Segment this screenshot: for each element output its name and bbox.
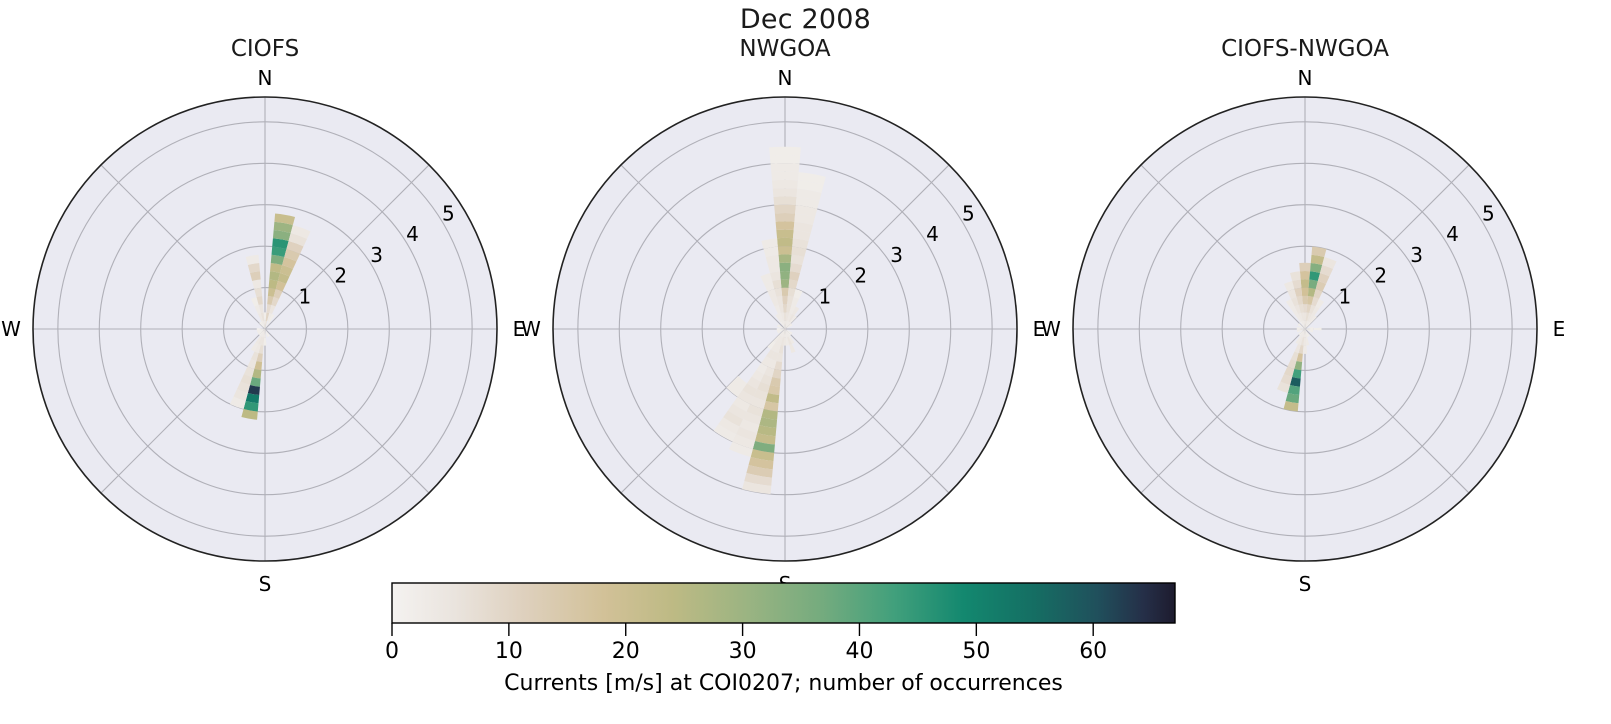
colorbar-tick-label: 30 [729, 639, 757, 664]
cardinal-label-w: W [521, 317, 541, 341]
colorbar-tick-label: 40 [845, 639, 873, 664]
rose-wedge [779, 263, 791, 272]
rose-wedge [780, 271, 790, 279]
cardinal-label-w: W [1041, 317, 1061, 341]
rose-wedge [1300, 271, 1310, 279]
radial-tick-label: 3 [890, 243, 903, 267]
cardinal-label-n: N [1298, 66, 1313, 90]
rose-wedge [1303, 304, 1307, 312]
radial-tick-label: 2 [854, 264, 867, 288]
cardinal-label-w: W [1, 317, 21, 341]
rose-wedge [1303, 346, 1307, 354]
rose-wedge [770, 155, 800, 164]
colorbar-tick-label: 60 [1079, 639, 1107, 664]
colorbar: 0102030405060 Currents [m/s] at COI0207;… [392, 583, 1175, 637]
colorbar-tick-label: 20 [612, 639, 640, 664]
radial-tick-label: 1 [819, 284, 832, 308]
colorbar-gradient [392, 583, 1175, 637]
rose-wedge [782, 296, 788, 304]
rose-wedge [778, 246, 792, 255]
radial-tick-label: 2 [334, 264, 347, 288]
rose-wedge [1299, 263, 1311, 272]
radial-tick-label: 3 [370, 243, 383, 267]
rose-wedge [777, 238, 793, 247]
cardinal-label-n: N [258, 66, 273, 90]
cardinal-label-e: E [1553, 317, 1566, 341]
colorbar-caption: Currents [m/s] at COI0207; number of occ… [392, 671, 1175, 696]
rose-wedge [1302, 296, 1308, 304]
rose-wedge [776, 230, 793, 239]
rose-wedge [781, 288, 788, 296]
rose-wedge [1301, 288, 1308, 296]
radial-tick-label: 1 [1339, 284, 1352, 308]
radial-tick-label: 4 [1446, 222, 1459, 246]
rose-wedge [772, 180, 798, 189]
rose-wedge [779, 254, 792, 263]
radial-tick-label: 3 [1410, 243, 1423, 267]
rose-wedge [775, 213, 795, 222]
colorbar-tick-label: 50 [962, 639, 990, 664]
radial-tick-label: 1 [299, 284, 312, 308]
rose-wedge [773, 188, 798, 197]
rose-wedge [769, 147, 801, 156]
figure-canvas: Dec 2008 CIOFS12345NSEWNWGOA12345NSEWCIO… [0, 0, 1611, 724]
colorbar-tick-label: 10 [495, 639, 523, 664]
rose-wedge [1301, 279, 1310, 287]
radial-tick-label: 2 [1374, 264, 1387, 288]
cardinal-label-s: S [1299, 572, 1312, 596]
radial-tick-label: 5 [1482, 201, 1495, 225]
rose-wedge [771, 172, 798, 181]
colorbar-tick-label: 0 [385, 639, 399, 664]
rose-wedge [783, 304, 787, 312]
rose-wedge [771, 163, 800, 172]
cardinal-label-n: N [778, 66, 793, 90]
cardinal-label-s: S [259, 572, 272, 596]
polar-axes-ciofs-nwgoa: 12345NSEW [953, 0, 1611, 600]
radial-tick-label: 4 [406, 222, 419, 246]
rose-wedge [774, 205, 796, 214]
radial-tick-label: 4 [926, 222, 939, 246]
rose-wedge [781, 279, 790, 287]
polar-panel-ciofs-nwgoa: CIOFS-NWGOA12345NSEW [953, 0, 1611, 600]
rose-wedge [773, 196, 796, 205]
colorbar-bar [392, 583, 1175, 623]
rose-wedge [776, 221, 795, 230]
